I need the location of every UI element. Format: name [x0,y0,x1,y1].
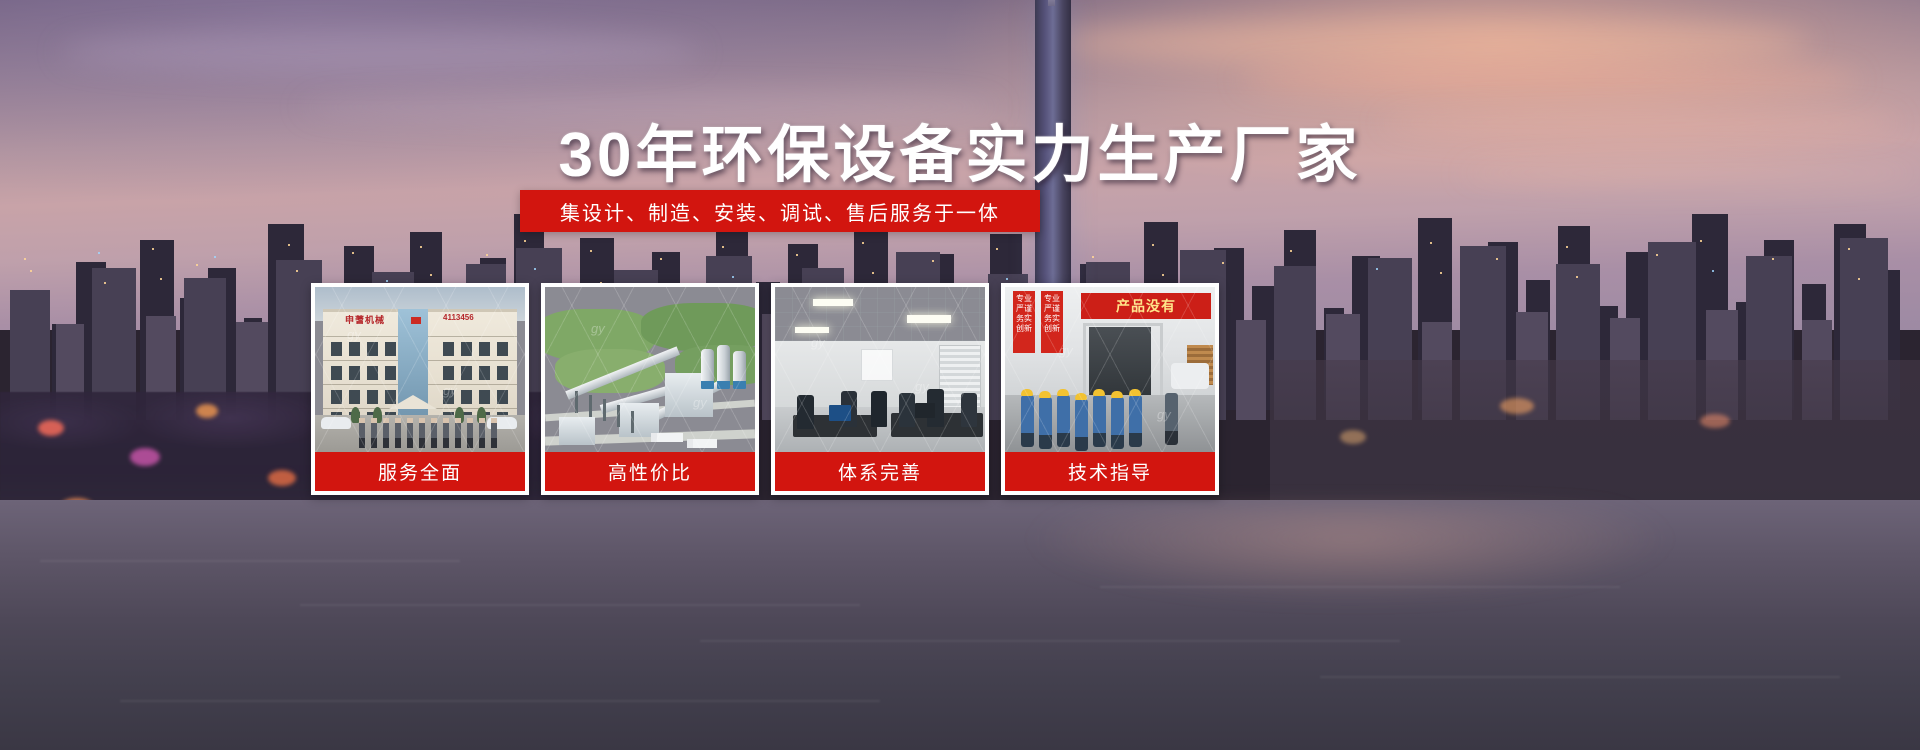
hero-subtitle-banner: 集设计、制造、安装、调试、售后服务于一体 [520,190,1040,232]
card-photo-office-building: 申蓍机械 4113456 gy gy [315,287,525,452]
card-label: 体系完善 [775,452,985,491]
hero-subtitle-text: 集设计、制造、安装、调试、售后服务于一体 [560,197,1000,226]
factory-left-vertical-banner-2: 专业 严谨 务实 创新 [1041,291,1063,353]
feature-card[interactable]: gy gy 体系完善 [771,283,989,495]
feature-card-list: 申蓍机械 4113456 gy gy 服务 [311,283,1261,495]
page-title: 30年环保设备实力生产厂家 [0,104,1920,194]
factory-left-vertical-banner: 专业 严谨 务实 创新 [1013,291,1035,353]
card-photo-industrial-plant: gy gy [545,287,755,452]
hero-banner: 30年环保设备实力生产厂家 集设计、制造、安装、调试、售后服务于一体 [0,0,1920,750]
card-label: 服务全面 [315,452,525,491]
feature-card[interactable]: gy gy 高性价比 [541,283,759,495]
card-photo-office-meeting: gy gy [775,287,985,452]
feature-card[interactable]: 专业 严谨 务实 创新 专业 严谨 务实 创新 产品没有 [1001,283,1219,495]
building-sign-text: 申蓍机械 [345,313,385,326]
factory-main-banner: 产品没有 [1081,293,1211,319]
feature-card[interactable]: 申蓍机械 4113456 gy gy 服务 [311,283,529,495]
building-phone-number: 4113456 [443,313,474,322]
card-label: 技术指导 [1005,452,1215,491]
card-label: 高性价比 [545,452,755,491]
card-photo-factory-workers: 专业 严谨 务实 创新 专业 严谨 务实 创新 产品没有 [1005,287,1215,452]
